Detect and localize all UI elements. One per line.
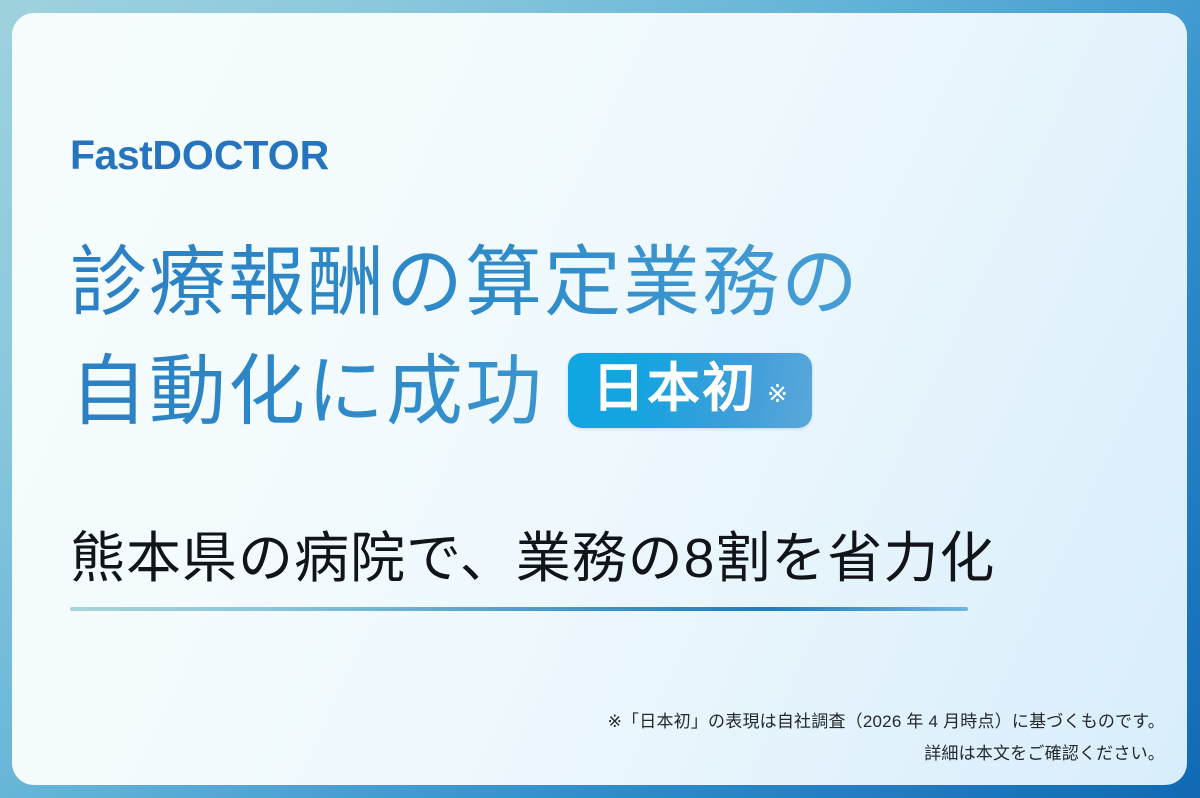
slide-canvas: FastDOCTOR 診療報酬の算定業務の 自動化に成功 日本初 ※ 熊本県の病… (0, 0, 1200, 798)
slide-card: FastDOCTOR 診療報酬の算定業務の 自動化に成功 日本初 ※ 熊本県の病… (12, 13, 1187, 785)
footnote-line-1: ※「日本初」の表現は自社調査（2026 年 4 月時点）に基づくものです。 (608, 706, 1165, 737)
brand-logo: FastDOCTOR (70, 135, 329, 176)
headline-line-2: 自動化に成功 日本初 ※ (70, 338, 1080, 447)
headline-line-1: 診療報酬の算定業務の (70, 229, 1080, 338)
footnote-line-2: 詳細は本文をご確認ください。 (608, 738, 1165, 769)
asterisk-reference-icon: ※ (767, 382, 790, 407)
subtitle-underline (70, 607, 968, 611)
headline-line-2-text: 自動化に成功 (70, 338, 544, 447)
subtitle-text: 熊本県の病院で、業務の8割を省力化 (70, 525, 970, 591)
badge-label: 日本初 (592, 362, 757, 415)
headline: 診療報酬の算定業務の 自動化に成功 日本初 ※ (70, 229, 1080, 448)
subtitle-block: 熊本県の病院で、業務の8割を省力化 (70, 525, 970, 611)
brand-logo-fast: Fast (70, 132, 152, 178)
footnote: ※「日本初」の表現は自社調査（2026 年 4 月時点）に基づくものです。 詳細… (608, 706, 1165, 769)
first-in-japan-badge: 日本初 ※ (568, 353, 812, 428)
brand-logo-doctor: DOCTOR (152, 132, 329, 178)
